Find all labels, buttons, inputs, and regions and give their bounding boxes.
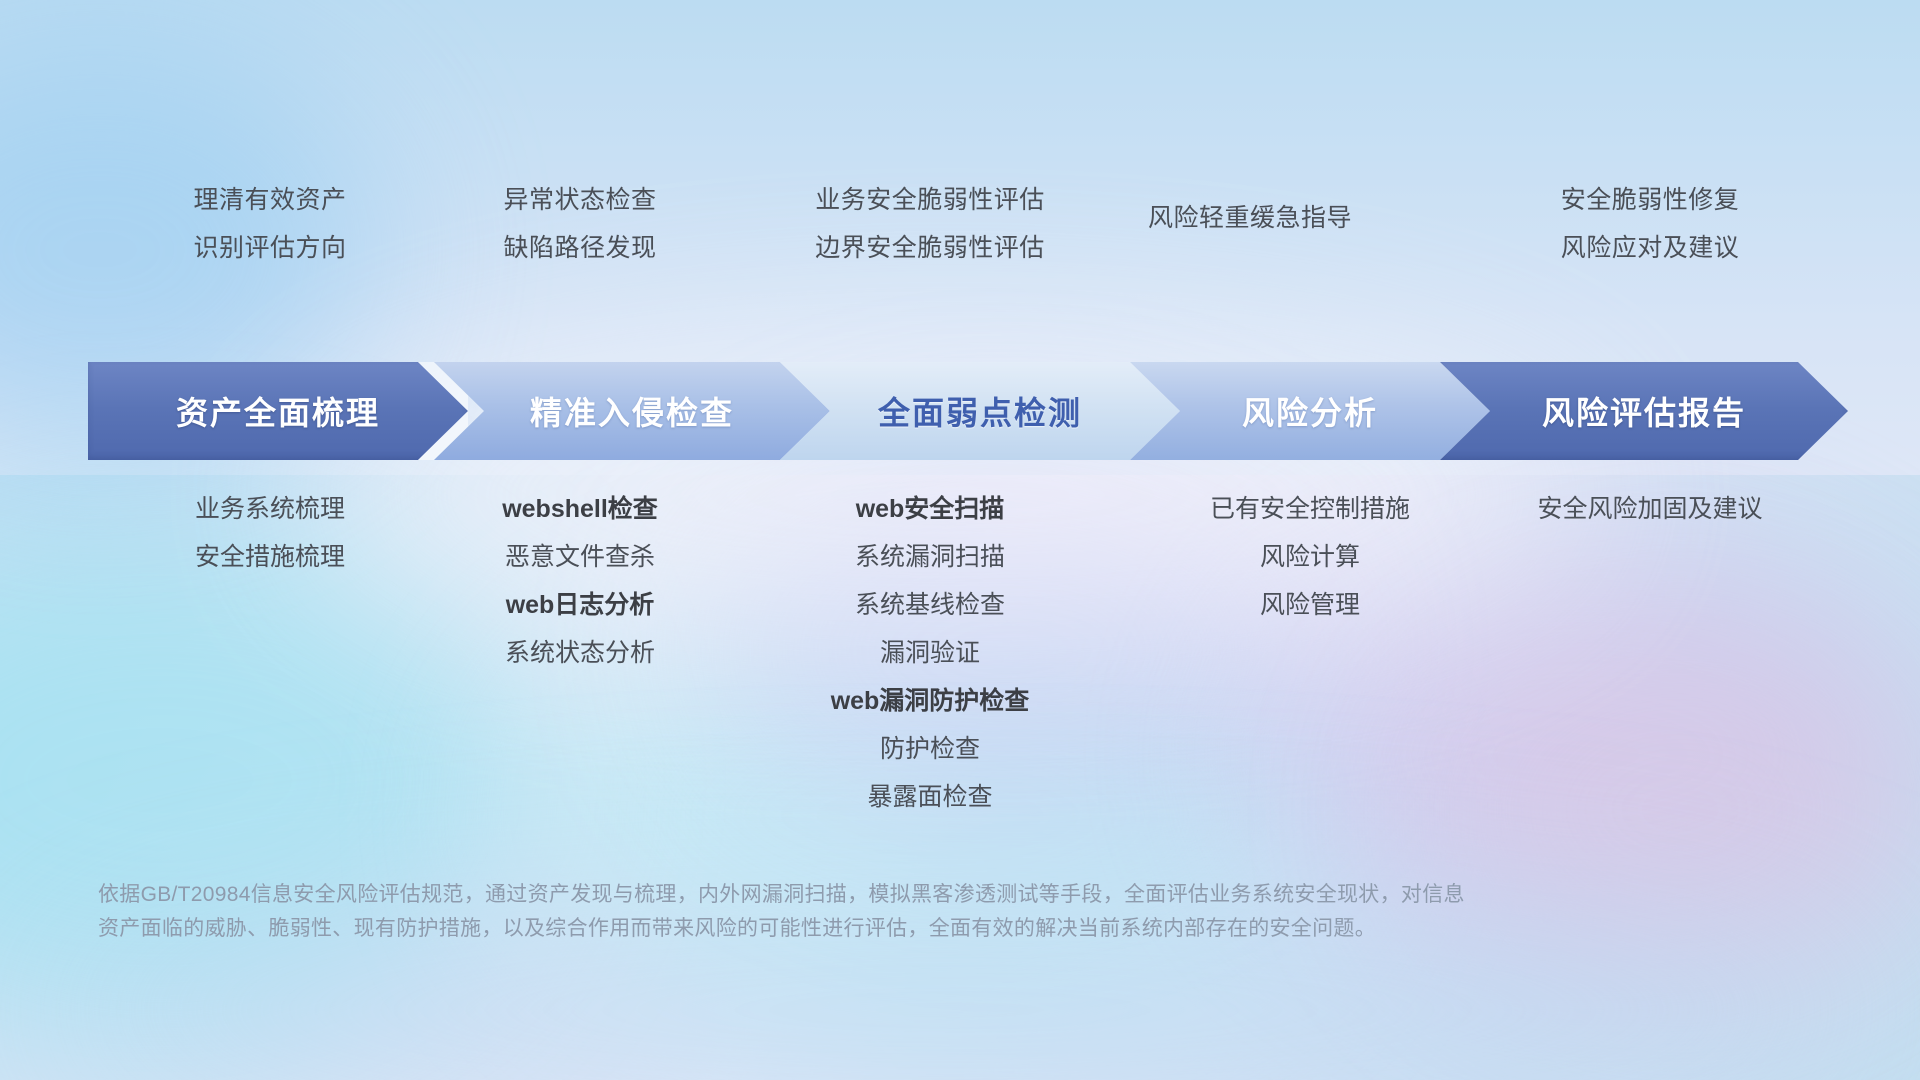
chevron-label: 全面弱点检测 bbox=[780, 388, 1180, 434]
bottom-label-line: 风险计算 bbox=[1090, 533, 1530, 581]
bottom-labels-stage-3: web安全扫描 系统漏洞扫描 系统基线检查 漏洞验证 web漏洞防护检查 防护检… bbox=[710, 485, 1150, 821]
bottom-label-line: 风险管理 bbox=[1090, 581, 1530, 629]
top-label-line: 风险应对及建议 bbox=[1430, 224, 1870, 272]
bottom-label-line: web漏洞防护检查 bbox=[710, 677, 1150, 725]
bottom-label-line: 系统漏洞扫描 bbox=[710, 533, 1150, 581]
bottom-label-line: web安全扫描 bbox=[710, 485, 1150, 533]
bottom-label-line: 暴露面检查 bbox=[710, 773, 1150, 821]
bottom-label-line: 系统基线检查 bbox=[710, 581, 1150, 629]
footer-line-1: 依据GB/T20984信息安全风险评估规范，通过资产发现与梳理，内外网漏洞扫描，… bbox=[98, 878, 1678, 912]
process-chevron-bar: 资产全面梳理 精准入侵检查 全面弱点检测 风险分析 风险评估报告 bbox=[88, 362, 1848, 460]
bottom-label-line: 漏洞验证 bbox=[710, 629, 1150, 677]
process-diagram: 理清有效资产 识别评估方向 异常状态检查 缺陷路径发现 业务安全脆弱性评估 边界… bbox=[0, 0, 1920, 1080]
top-label-line: 风险轻重缓急指导 bbox=[1030, 194, 1470, 242]
top-labels-stage-4: 风险轻重缓急指导 bbox=[1030, 194, 1470, 242]
bottom-label-line: 安全风险加固及建议 bbox=[1430, 485, 1870, 533]
chevron-stage-4[interactable]: 风险分析 bbox=[1130, 362, 1490, 460]
chevron-stage-3[interactable]: 全面弱点检测 bbox=[780, 362, 1180, 460]
top-labels-stage-5: 安全脆弱性修复 风险应对及建议 bbox=[1430, 176, 1870, 272]
chevron-stage-5[interactable]: 风险评估报告 bbox=[1440, 362, 1848, 460]
chevron-label: 风险评估报告 bbox=[1440, 388, 1848, 434]
chevron-stage-1[interactable]: 资产全面梳理 bbox=[88, 362, 468, 460]
footer-description: 依据GB/T20984信息安全风险评估规范，通过资产发现与梳理，内外网漏洞扫描，… bbox=[98, 878, 1678, 946]
bottom-label-line: 防护检查 bbox=[710, 725, 1150, 773]
bottom-labels-stage-5: 安全风险加固及建议 bbox=[1430, 485, 1870, 533]
top-label-line: 安全脆弱性修复 bbox=[1430, 176, 1870, 224]
footer-line-2: 资产面临的威胁、脆弱性、现有防护措施，以及综合作用而带来风险的可能性进行评估，全… bbox=[98, 912, 1678, 946]
top-label-row: 理清有效资产 识别评估方向 异常状态检查 缺陷路径发现 业务安全脆弱性评估 边界… bbox=[0, 176, 1920, 286]
chevron-stage-2[interactable]: 精准入侵检查 bbox=[434, 362, 830, 460]
chevron-label: 资产全面梳理 bbox=[88, 388, 468, 434]
chevron-label: 风险分析 bbox=[1130, 388, 1490, 434]
chevron-label: 精准入侵检查 bbox=[434, 388, 830, 434]
